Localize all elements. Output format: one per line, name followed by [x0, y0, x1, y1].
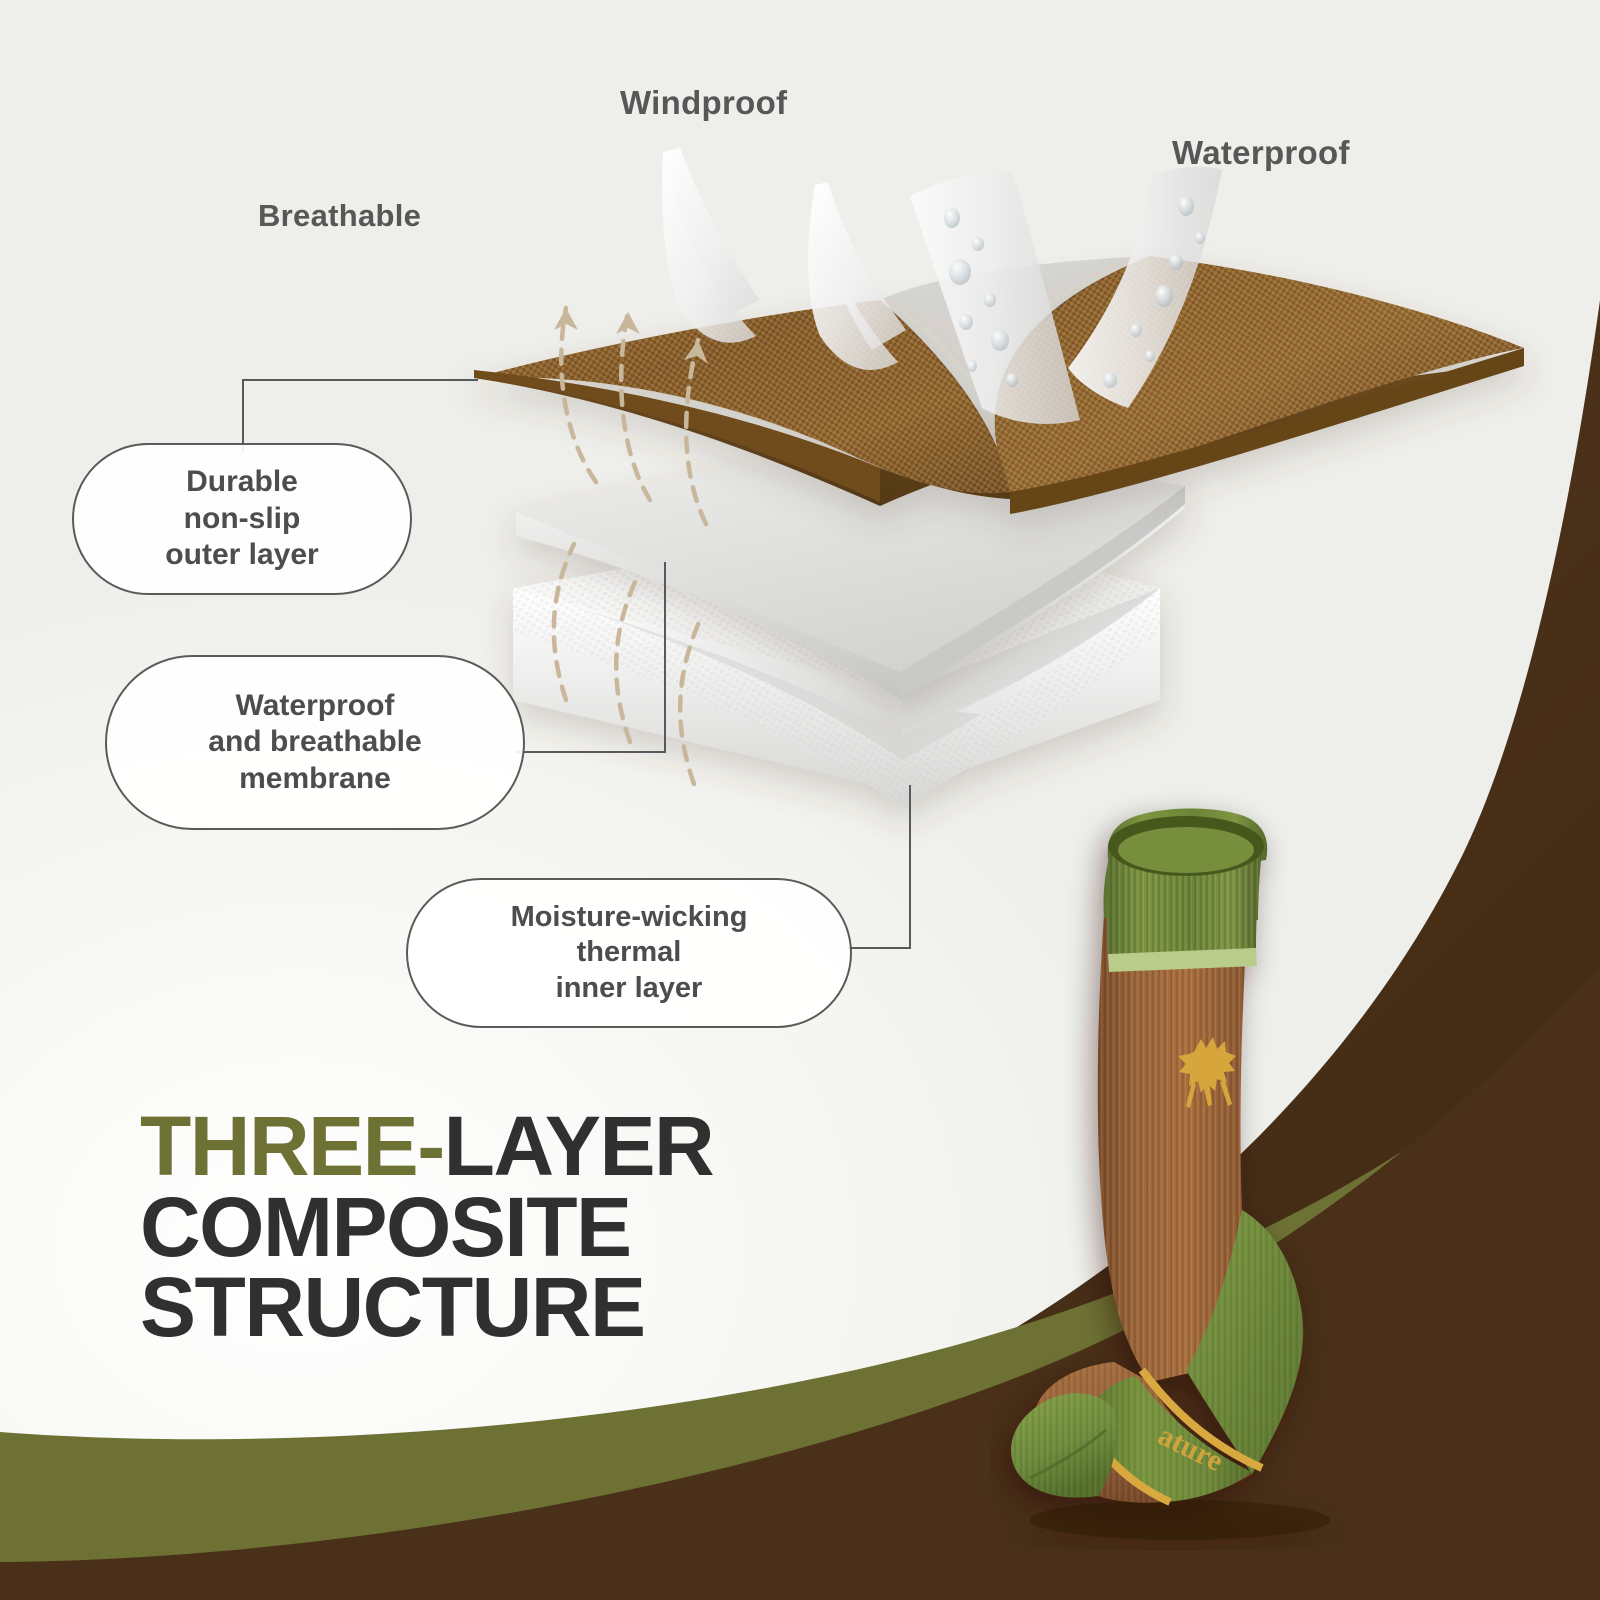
callout-line: outer layer — [165, 538, 318, 571]
callout-line: Moisture-wicking — [511, 901, 748, 933]
headline-line-1-rest: LAYER — [444, 1099, 713, 1193]
callout-inner-layer-text: Moisture-wicking thermal inner layer — [511, 900, 748, 1006]
connector-inner — [848, 785, 910, 948]
callout-inner-layer: Moisture-wicking thermal inner layer — [406, 878, 852, 1028]
sock-product-image: ature — [990, 790, 1510, 1550]
headline-line-3: STRUCTURE — [140, 1267, 713, 1348]
feature-label-waterproof: Waterproof — [1172, 134, 1350, 172]
connector-outer — [243, 380, 478, 452]
headline: THREE-LAYER COMPOSITE STRUCTURE — [140, 1106, 713, 1348]
callout-membrane: Waterproof and breathable membrane — [105, 655, 525, 830]
infographic-canvas: Breathable Windproof Waterproof Durable … — [0, 0, 1600, 1600]
feature-label-windproof: Windproof — [620, 84, 787, 122]
callout-line: and breathable — [208, 725, 421, 758]
callout-outer-layer-text: Durable non-slip outer layer — [165, 464, 318, 574]
callout-membrane-text: Waterproof and breathable membrane — [208, 688, 421, 798]
callout-line: membrane — [239, 762, 391, 795]
headline-line-1: THREE-LAYER — [140, 1106, 713, 1187]
callout-line: inner layer — [556, 972, 703, 1004]
callout-line: non-slip — [184, 502, 301, 535]
callout-line: Waterproof — [236, 689, 395, 722]
headline-line-2: COMPOSITE — [140, 1187, 713, 1268]
feature-label-breathable: Breathable — [258, 198, 421, 234]
headline-highlight: THREE- — [140, 1099, 444, 1193]
callout-outer-layer: Durable non-slip outer layer — [72, 443, 412, 595]
callout-line: thermal — [577, 936, 682, 968]
callout-line: Durable — [186, 465, 298, 498]
